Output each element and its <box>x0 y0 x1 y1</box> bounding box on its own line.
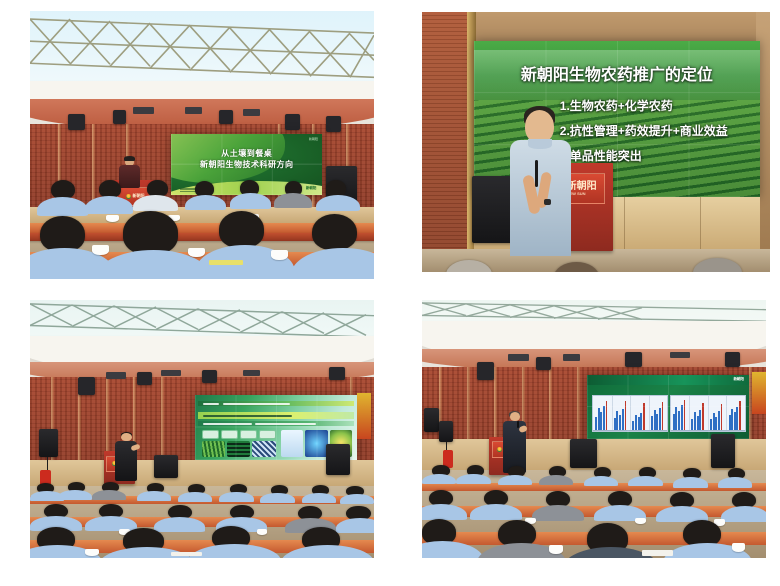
slide-bullet-1: 1.生物农药+化学农药 <box>560 97 673 114</box>
tea-cup <box>106 215 120 222</box>
slide-bullet-2: 2.抗性管理+药效提升+商业效益 <box>560 122 728 139</box>
stage-light <box>106 372 127 378</box>
ceiling-speaker <box>725 352 740 367</box>
stage-light <box>243 370 260 376</box>
speaker <box>506 106 576 257</box>
photo-collage: 从土壤到餐桌 新朝阳生物技术科研方向 新朝阳 新朝阳 新朝阳 <box>0 0 780 586</box>
audience <box>422 450 766 558</box>
stage-light <box>563 354 580 360</box>
chart-board <box>670 395 746 432</box>
handout <box>642 550 673 555</box>
ceiling-truss-icon <box>422 300 766 323</box>
tea-cup <box>271 250 288 260</box>
photo-top-right[interactable]: 新朝阳生物农药推广的定位 1.生物农药+化学农药 2.抗性管理+药效提升+商业效… <box>422 12 770 272</box>
slide-title: 新朝阳生物农药推广的定位 <box>474 61 759 85</box>
side-banner <box>357 393 371 439</box>
tea-cup <box>92 245 109 255</box>
ceiling-truss-icon <box>30 11 374 91</box>
ceiling-speaker <box>477 362 494 380</box>
slide-corner-mark: 新朝阳 <box>309 137 318 141</box>
led-video-wall: 新朝阳 <box>587 375 749 440</box>
ceiling-speaker <box>625 352 642 367</box>
stage-light <box>185 107 202 114</box>
stage-light <box>670 352 691 358</box>
audience <box>422 241 770 272</box>
presentation-slide: 新朝阳 <box>587 375 749 440</box>
ceiling-speaker <box>536 357 551 370</box>
floor-speaker <box>424 408 439 431</box>
ceiling-speaker <box>285 114 300 130</box>
floor-speaker <box>439 421 453 442</box>
photo-bottom-left[interactable]: 新朝阳 <box>30 300 374 558</box>
slide-header-bar <box>587 375 749 385</box>
ceiling-speaker <box>329 367 344 380</box>
microphone-icon <box>517 421 519 428</box>
chart-board <box>592 395 668 432</box>
tea-cup <box>85 549 99 556</box>
ceiling-speaker <box>68 114 85 130</box>
tea-cup <box>732 543 746 552</box>
slide-image-row <box>202 441 276 458</box>
stage-light <box>508 354 529 360</box>
microphone-icon <box>535 160 538 187</box>
ceiling-speaker <box>202 370 217 383</box>
tea-cup <box>635 518 645 525</box>
brick-pier <box>422 12 467 272</box>
stage-light <box>161 370 182 376</box>
stage-light <box>133 107 154 114</box>
handout <box>209 260 243 265</box>
slide-panel-row <box>202 430 276 439</box>
audience <box>30 468 374 558</box>
handout <box>171 552 202 557</box>
slide-title-line1: 从土壤到餐桌 <box>171 149 322 159</box>
side-banner <box>752 372 766 413</box>
ceiling-speaker <box>113 110 127 123</box>
ceiling-speaker <box>219 110 233 123</box>
slide-logo: 新朝阳 <box>733 377 744 382</box>
stage-light <box>243 109 260 116</box>
ceiling-speaker <box>326 116 341 132</box>
tea-cup <box>257 529 267 534</box>
tea-cup <box>549 545 563 554</box>
floor-speaker <box>39 429 58 457</box>
photo-top-left[interactable]: 从土壤到餐桌 新朝阳生物技术科研方向 新朝阳 新朝阳 新朝阳 <box>30 11 374 279</box>
ceiling-speaker <box>78 377 95 395</box>
audience <box>30 158 374 279</box>
photo-bottom-right[interactable]: 新朝阳 <box>422 300 766 558</box>
ceiling-speaker <box>137 372 152 385</box>
